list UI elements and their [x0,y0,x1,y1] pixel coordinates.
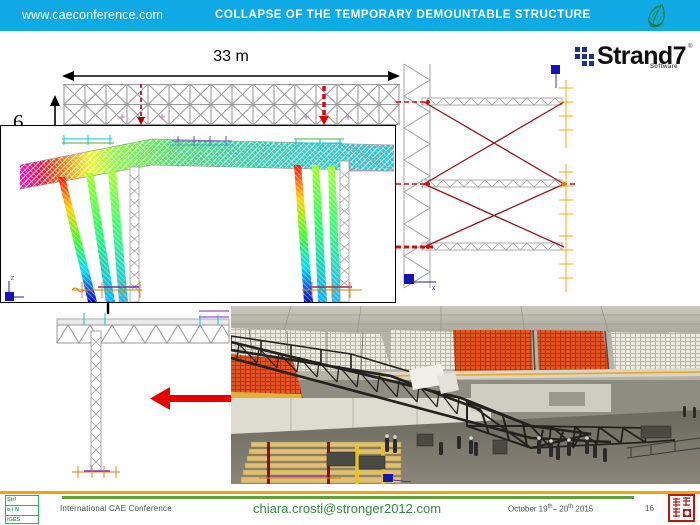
dimension-arrow-line [62,68,400,84]
registered-mark: ® [688,44,692,50]
side-axis-triad-bottom: X [404,274,436,292]
collapsed-structure-photograph [231,306,700,484]
beam-web-zigzag [57,325,229,343]
footer-date: October 19th– 20th 2015 [508,504,593,514]
undeformed-truss-elevation [63,84,400,125]
slide-header-bar: www.caeconference.com COLLAPSE OF THE TE… [0,0,700,31]
undeformed-column-right [340,161,349,302]
logo-line-1: Str/ [7,496,16,504]
dimension-label: 33 m [62,48,400,66]
node-highlight-markers [426,100,566,249]
footer-green-rule [62,496,634,499]
logo-line-2: o / N [7,506,19,514]
side-horizontal-truss-beams [422,98,562,250]
footer-conference-name: International CAE Conference [60,504,172,513]
cross-bracing-members [424,102,564,247]
header-website-url[interactable]: www.caeconference.com [22,8,163,22]
strand7-logo: Strand7 Software ® [575,44,693,74]
date-sup-2: th [568,504,573,510]
vertical-column [91,331,101,471]
dimension-annotation-33m: 33 m [62,48,400,82]
date-mid: – 20 [553,505,569,514]
footer-email-link[interactable]: chiara.crosti@stronger2012.com [253,501,441,516]
top-purple-band [199,311,229,317]
undeformed-column-left [130,167,139,302]
date-year: 2015 [575,505,593,514]
slide-title: COLLAPSE OF THE TEMPORARY DEMOUNTABLE ST… [215,9,591,21]
top-chord [57,319,229,325]
seating-upper-right [669,332,700,372]
logo-line-3: /GES [7,516,20,524]
deformed-contour-structure [2,127,394,302]
slide-page-number: 16 [645,504,654,513]
seating-upper-orange [453,330,677,374]
side-axis-triad-top [551,65,560,88]
side-mast-left [404,64,430,288]
strand7-subtitle: Software [650,64,678,70]
svg-text:Z: Z [11,276,14,282]
deformed-leg-left-group [58,171,128,302]
svg-text:X: X [432,286,436,292]
deformed-leg-right-group [294,165,341,302]
support-restraints-right [559,80,573,292]
axis-triad-icon: Z [4,275,28,301]
single-column-truss-detail [0,303,232,488]
deformed-deck [20,139,394,189]
red-pointer-arrow [150,387,232,410]
date-prefix: October 19 [508,505,548,514]
red-seal-logo [668,494,695,522]
back-wall-panel [471,384,611,412]
side-elevation-bracing: X [396,60,588,303]
stronger2012-logo: Str/ o / N /GES [5,495,39,524]
green-leaf-icon [640,2,674,30]
